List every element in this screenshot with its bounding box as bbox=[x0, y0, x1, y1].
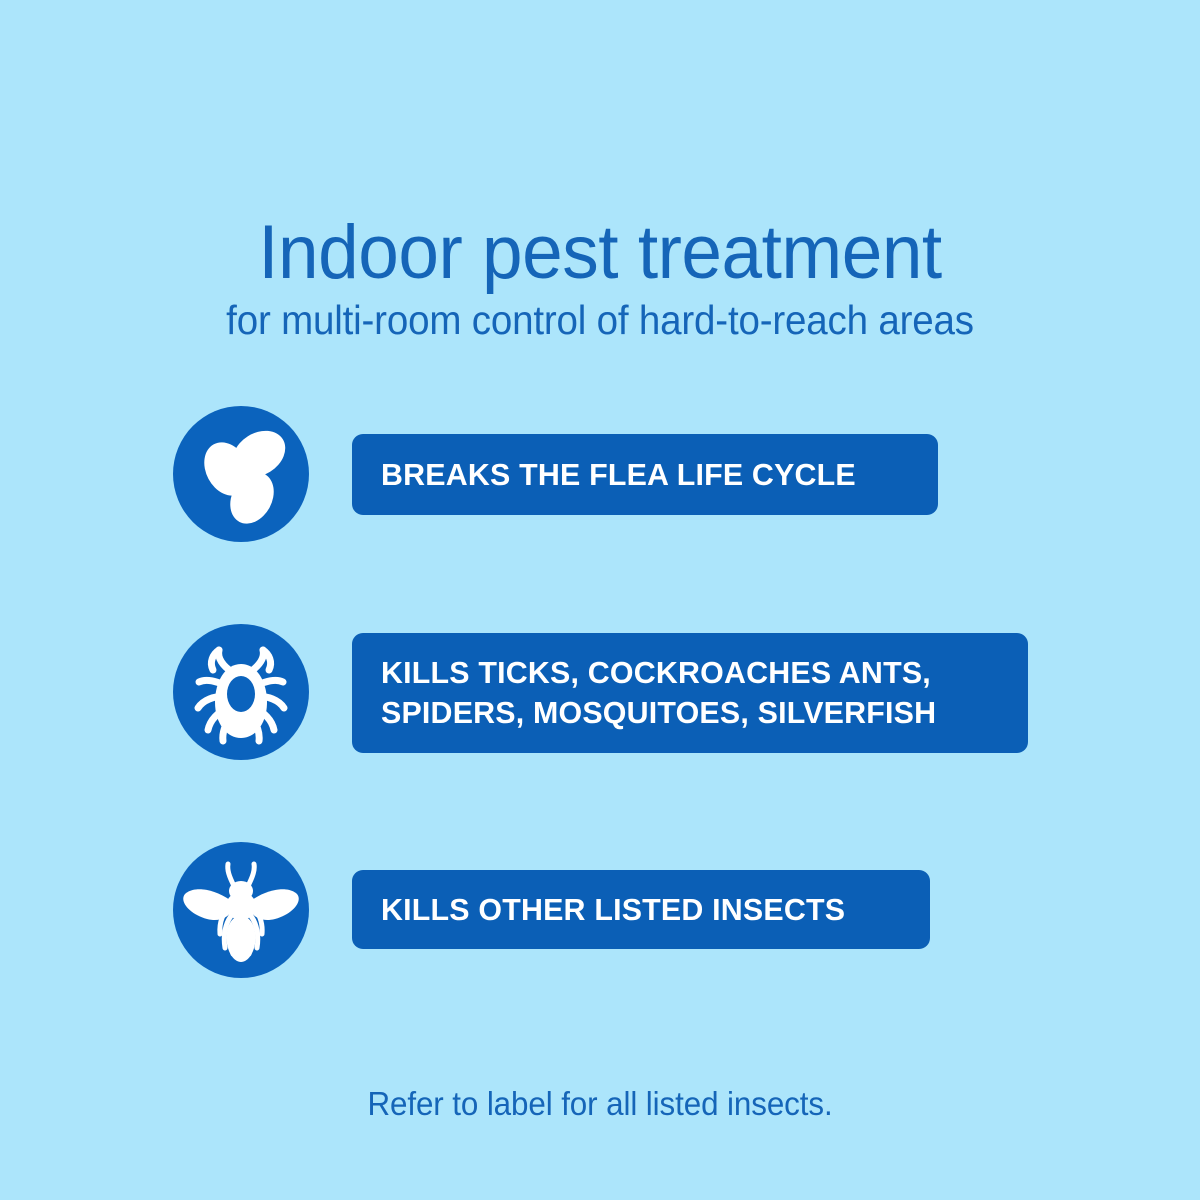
tick-icon bbox=[173, 624, 309, 760]
heading-block: Indoor pest treatment for multi-room con… bbox=[0, 212, 1200, 344]
feature-badge: KILLS TICKS, COCKROACHES ANTS, SPIDERS, … bbox=[352, 633, 1028, 753]
flea-eggs-icon bbox=[173, 406, 309, 542]
feature-list: BREAKS THE FLEA LIFE CYCLE bbox=[0, 406, 1200, 978]
bee-icon bbox=[173, 842, 309, 978]
feature-row: KILLS TICKS, COCKROACHES ANTS, SPIDERS, … bbox=[0, 624, 1200, 760]
feature-badge-label: BREAKS THE FLEA LIFE CYCLE bbox=[381, 455, 856, 495]
feature-badge-label: KILLS OTHER LISTED INSECTS bbox=[381, 890, 845, 930]
footer-note: Refer to label for all listed insects. bbox=[30, 1084, 1170, 1124]
feature-row: BREAKS THE FLEA LIFE CYCLE bbox=[0, 406, 1200, 542]
page-title: Indoor pest treatment bbox=[24, 212, 1176, 294]
feature-badge-label: KILLS TICKS, COCKROACHES ANTS, SPIDERS, … bbox=[381, 653, 936, 733]
feature-row: KILLS OTHER LISTED INSECTS bbox=[0, 842, 1200, 978]
feature-badge: KILLS OTHER LISTED INSECTS bbox=[352, 870, 930, 949]
poster-canvas: Indoor pest treatment for multi-room con… bbox=[0, 0, 1200, 1200]
page-subtitle: for multi-room control of hard-to-reach … bbox=[36, 296, 1164, 344]
feature-badge: BREAKS THE FLEA LIFE CYCLE bbox=[352, 434, 938, 515]
